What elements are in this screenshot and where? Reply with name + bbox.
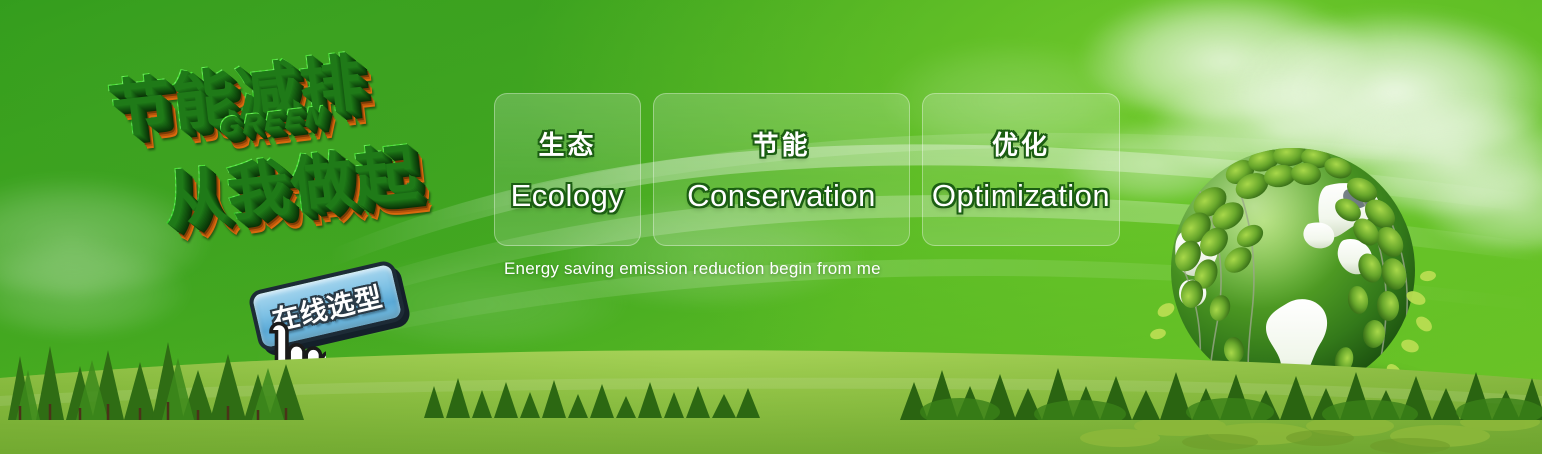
conifer-tree-icon — [900, 362, 1542, 420]
feature-card-title-cn: 生态 — [538, 125, 596, 162]
headline-3d: 节能减排 GREEN 从我做起 — [84, 14, 507, 288]
feature-card-title-cn: 优化 — [992, 125, 1050, 162]
feature-card-conservation[interactable]: 节能 Conservation — [653, 93, 910, 246]
banner-tagline: Energy saving emission reduction begin f… — [504, 259, 881, 279]
feature-card-title-cn: 节能 — [752, 125, 810, 162]
cloud-icon — [1420, 160, 1542, 250]
feature-card-title-en: Ecology — [511, 178, 625, 214]
green-energy-banner: 节能减排 GREEN 从我做起 在线选型 生态 Ecology 节能 Conse… — [0, 0, 1542, 454]
conifer-tree-icon — [420, 374, 760, 418]
conifer-tree-icon — [0, 340, 380, 420]
feature-card-title-en: Conservation — [687, 178, 876, 214]
feature-card-group: 生态 Ecology 节能 Conservation 优化 Optimizati… — [494, 93, 1120, 246]
ground-landscape — [0, 334, 1542, 454]
feature-card-optimization[interactable]: 优化 Optimization — [922, 93, 1120, 246]
feature-card-title-en: Optimization — [932, 178, 1110, 214]
feature-card-ecology[interactable]: 生态 Ecology — [494, 93, 641, 246]
cloud-icon — [1080, 0, 1370, 120]
